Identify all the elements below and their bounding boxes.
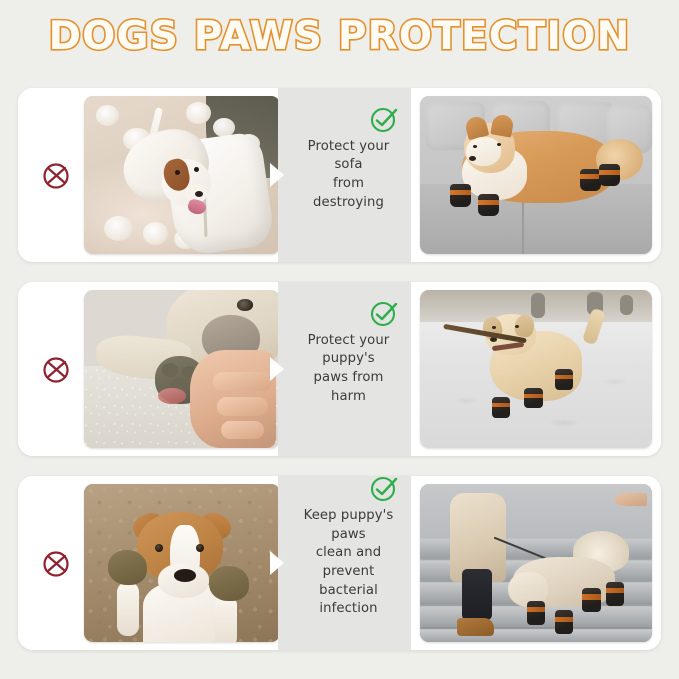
benefit-caption-zone-3: Keep puppy's paws clean and prevent bact… — [278, 476, 411, 650]
benefit-caption-zone-1: Protect your sofa from destroying — [278, 88, 411, 262]
problem-photo-2 — [84, 290, 280, 448]
benefit-card-3: Keep puppy's paws clean and prevent bact… — [18, 476, 661, 650]
check-mark-icon — [369, 476, 399, 503]
benefit-caption-1: Protect your sofa from destroying — [300, 138, 397, 213]
benefit-card-1: Protect your sofa from destroying — [18, 88, 661, 262]
arrow-right-icon — [270, 357, 284, 381]
infographic-page: DOGS PAWS PROTECTION — [0, 0, 679, 679]
cross-mark-icon — [40, 546, 74, 580]
benefit-caption-zone-2: Protect your puppy's paws from harm — [278, 282, 411, 456]
benefit-card-2: Protect your puppy's paws from harm — [18, 282, 661, 456]
check-mark-icon — [369, 298, 399, 328]
benefit-caption-2: Protect your puppy's paws from harm — [300, 332, 397, 407]
benefit-photo-zone-3 — [411, 476, 661, 650]
problem-zone-2 — [18, 282, 278, 456]
cross-mark-icon — [40, 352, 74, 386]
problem-photo-1 — [84, 96, 280, 254]
cross-mark-icon — [40, 158, 74, 192]
title-container: DOGS PAWS PROTECTION — [0, 16, 679, 58]
benefit-photo-1 — [420, 96, 652, 254]
benefit-photo-2 — [420, 290, 652, 448]
page-title: DOGS PAWS PROTECTION — [49, 16, 631, 58]
arrow-right-icon — [270, 163, 284, 187]
problem-photo-3 — [84, 484, 280, 642]
benefit-caption-3: Keep puppy's paws clean and prevent bact… — [300, 507, 397, 619]
benefit-photo-zone-2 — [411, 282, 661, 456]
problem-zone-1 — [18, 88, 278, 262]
check-mark-icon — [369, 104, 399, 134]
problem-zone-3 — [18, 476, 278, 650]
benefit-photo-3 — [420, 484, 652, 642]
benefit-photo-zone-1 — [411, 88, 661, 262]
arrow-right-icon — [270, 551, 284, 575]
